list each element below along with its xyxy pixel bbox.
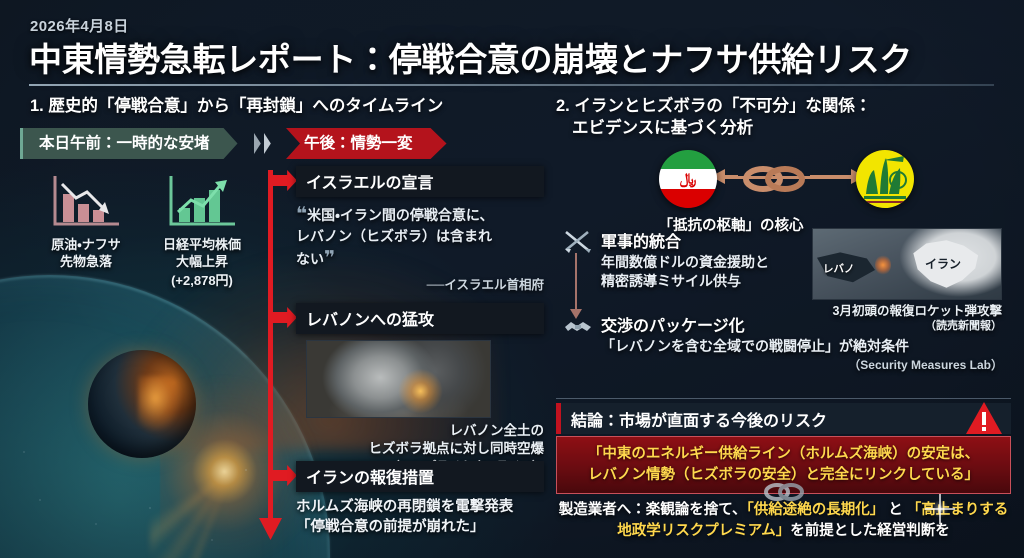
quote-line1: 米国・イラン間の停戦合意に、 <box>307 207 493 223</box>
map-figure: レバノ イラン 3月初頭の報復ロケット弾攻撃 （読売新聞報） <box>812 228 1002 334</box>
iran-emblem-icon: ﷼ <box>680 172 697 187</box>
event-line2: 「停戦合意の前提が崩れた」 <box>296 519 485 535</box>
evidence-source: （Security Measures Lab） <box>601 356 1003 373</box>
infographic-canvas: 2026年4月8日 中東情勢急転レポート：停戦合意の崩壊とナフサ供給リスク 1.… <box>0 0 1024 558</box>
strike-marker-icon <box>875 255 891 275</box>
section2-heading: 2. イランとヒズボラの「不可分」な関係： エビデンスに基づく分析 <box>556 95 976 139</box>
banner-afternoon-label: 午後：情勢一変 <box>304 135 413 152</box>
chain-link-icon <box>738 164 810 194</box>
quote-open-icon: ❝ <box>296 204 307 225</box>
timeline-banner: 本日午前：一時的な安堵 <box>20 128 238 159</box>
quote-close-icon: ❞ <box>324 248 335 269</box>
stat-label-line1: 原油・ナフサ <box>30 236 142 253</box>
chart-up-icon <box>165 172 239 230</box>
arrow-right-icon <box>810 175 852 178</box>
arrow-left-icon <box>724 175 738 178</box>
evidence-desc-line2: 精密誘導ミサイル供与 <box>601 273 741 289</box>
stat-label-line1: 日経平均株価 <box>146 236 258 253</box>
event-ribbon-title: イスラエルの宣言 <box>296 166 544 197</box>
chart-down-icon <box>49 172 123 230</box>
caption-line2: ヒズボラ拠点に対し同時空爆 <box>369 441 545 456</box>
banner-morning-label: 本日午前：一時的な安堵 <box>39 135 210 152</box>
hezbollah-flag-icon <box>856 150 914 208</box>
conclusion-heading: 結論：市場が直面する今後のリスク <box>571 407 827 431</box>
middle-east-map: レバノ イラン <box>812 228 1002 300</box>
event-quote: ❝米国・イラン間の停戦合意に、 レバノン（ヒズボラ）は含まれ ない❞ <box>296 202 544 271</box>
conclusion-box: 結論：市場が直面する今後のリスク 「中東のエネルギー供給ライン（ホルムズ海峡）の… <box>556 403 1011 542</box>
map-caption-text: 3月初頭の報復ロケット弾攻撃 <box>833 304 1002 318</box>
timeline-event-iran: イランの報復措置 ホルムズ海峡の再閉鎖を電撃発表 「停戦合意の前提が崩れた」 <box>296 461 544 538</box>
evidence-military-integration: 軍事的統合 年間数億ドルの資金援助と 精密誘導ミサイル供与 <box>563 228 833 292</box>
quote-line3: ない <box>296 251 324 267</box>
chevron-right-icon <box>252 128 286 159</box>
quote-line2: レバノン（ヒズボラ）は含まれ <box>296 228 492 244</box>
section2-heading-line2: エビデンスに基づく分析 <box>556 117 976 139</box>
globe-graphic <box>88 350 196 458</box>
event-attribution: ──イスラエル首相府 <box>296 274 544 293</box>
evidence-desc-line1: 「レバノンを含む全域での戦闘停止」が絶対条件 <box>601 338 909 354</box>
evidence-desc-line1: 年間数億ドルの資金援助と <box>601 254 769 270</box>
footer-part2: を前提とした経営判断を <box>790 523 950 539</box>
event-body: ホルムズ海峡の再閉鎖を電撃発表 「停戦合意の前提が崩れた」 <box>296 497 544 538</box>
event-ribbon-title: レバノンへの猛攻 <box>296 303 544 334</box>
conclusion-quote-line2: レバノン情勢（ヒズボラの安全）と完全にリンクしている」 <box>588 467 979 483</box>
event-ribbon-title: イランの報復措置 <box>296 461 544 492</box>
footer-part1: 製造業者へ：楽観論を捨て、 <box>559 502 747 518</box>
evidence-connector-arrow-icon <box>575 253 577 311</box>
iran-hezbollah-diagram: ﷼ 「抵抗の枢軸」の核心 <box>556 146 1016 238</box>
map-caption: 3月初頭の報復ロケット弾攻撃 （読売新聞報） <box>812 303 1002 334</box>
section2-heading-line1: 2. イランとヒズボラの「不可分」な関係： <box>556 97 871 115</box>
conclusion-divider <box>556 398 1011 399</box>
evidence-desc: 年間数億ドルの資金援助と 精密誘導ミサイル供与 <box>601 253 833 292</box>
crossed-swords-icon <box>563 229 593 253</box>
map-label-iran: イラン <box>925 255 961 272</box>
banner-afternoon: 午後：情勢一変 <box>286 128 447 159</box>
page-title: 中東情勢急転レポート：停戦合意の崩壊とナフサ供給リスク <box>29 33 1009 81</box>
caption-line1: レバノン全土の <box>450 423 545 438</box>
map-label-lebanon: レバノ <box>823 261 855 276</box>
warning-triangle-icon <box>965 400 1003 436</box>
conclusion-header: 結論：市場が直面する今後のリスク <box>556 403 1011 434</box>
timeline-event-israel: イスラエルの宣言 ❝米国・イラン間の停戦合意に、 レバノン（ヒズボラ）は含まれ … <box>296 166 544 293</box>
airstrike-photo <box>306 340 491 418</box>
evidence-desc: 「レバノンを含む全域での戦闘停止」が絶対条件 <box>601 337 1003 356</box>
banner-morning: 本日午前：一時的な安堵 <box>20 128 238 159</box>
stat-label-line2: 大幅上昇 <box>146 253 258 270</box>
stat-label-line3: (+2,878円) <box>146 270 258 289</box>
stat-label-line2: 先物急落 <box>30 253 142 270</box>
timeline-event-lebanon: レバノンへの猛攻 レバノン全土の ヒズボラ拠点に対し同時空爆 （FNNプライムオ… <box>296 303 544 474</box>
stat-oil-naphtha: 原油・ナフサ 先物急落 <box>30 172 142 270</box>
title-divider <box>29 84 994 86</box>
conclusion-footer: 製造業者へ：楽観論を捨て、「供給途絶の長期化」 と 「高止まりする地政学リスクプ… <box>556 500 1011 542</box>
event-line1: ホルムズ海峡の再閉鎖を電撃発表 <box>296 499 513 515</box>
evidence-title: 軍事的統合 <box>601 228 833 252</box>
footer-mid: と <box>884 502 907 518</box>
iran-flag-icon: ﷼ <box>659 150 717 208</box>
stat-nikkei: 日経平均株価 大幅上昇 (+2,878円) <box>146 172 258 289</box>
section1-heading: 1. 歴史的「停戦合意」から「再封鎖」へのタイムライン <box>30 95 443 117</box>
footer-highlight1: 「供給途絶の長期化」 <box>746 502 884 518</box>
conclusion-quote-line1: 「中東のエネルギー供給ライン（ホルムズ海峡）の安定は、 <box>588 446 979 462</box>
chain-link-icon <box>761 482 807 502</box>
map-source: （読売新聞報） <box>812 319 1002 333</box>
handshake-icon <box>563 313 593 337</box>
